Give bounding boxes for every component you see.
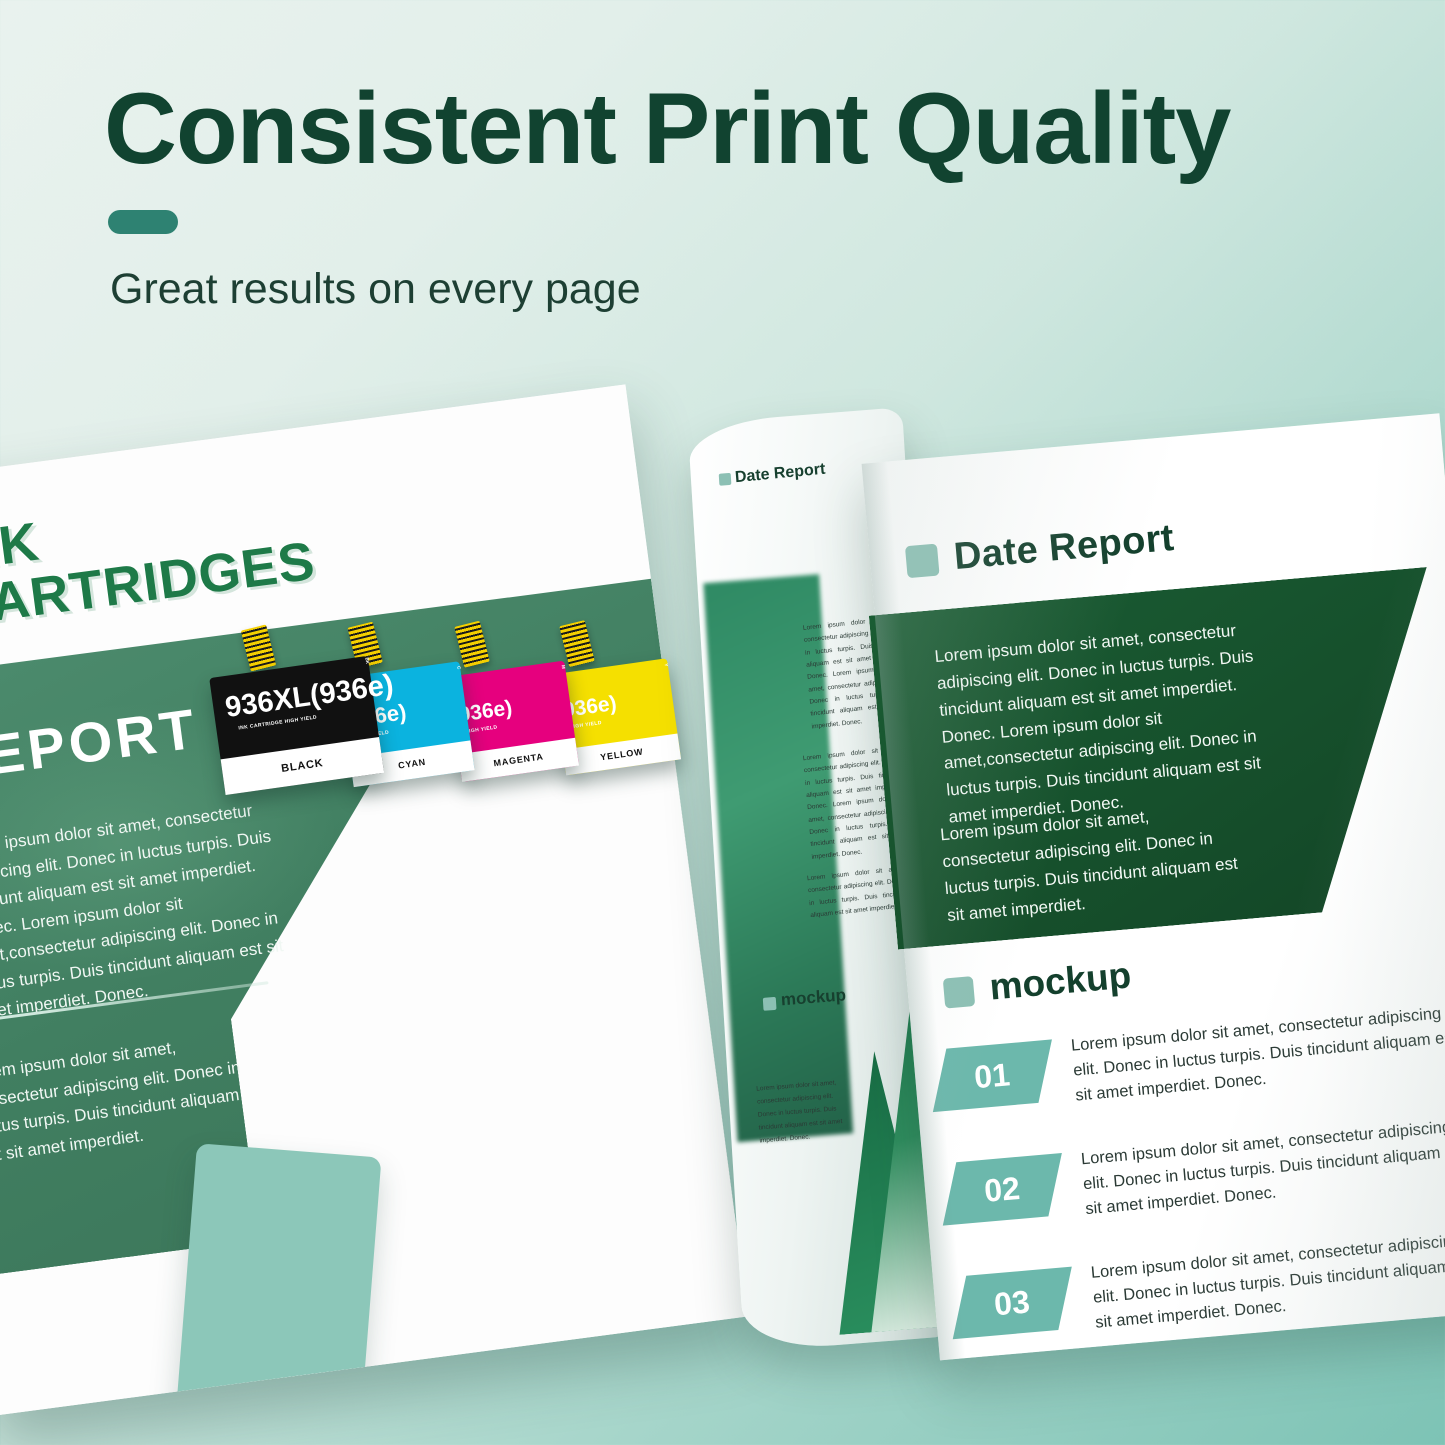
cartridge-black: 936XL(936e) INK CARTRIDGE HIGH YIELD BK …	[209, 656, 384, 795]
cartridge-cyan-side-text: C	[456, 666, 461, 670]
accent-pill-divider	[108, 210, 178, 234]
curled-page-heading-marker-icon	[719, 473, 732, 486]
cartridge-tab-magenta-icon	[454, 621, 489, 668]
right-brochure-spread: Date Report Lorem ipsum dolor sit amet, …	[648, 367, 1445, 1422]
left-brochure-teal-card	[171, 1143, 381, 1415]
curled-page-mockup-paragraph: Lorem ipsum dolor sit amet, consectetur …	[756, 1075, 852, 1147]
mockup-number-label: 01	[973, 1056, 1012, 1096]
date-report-heading: Date Report	[952, 517, 1176, 579]
mockup-heading-marker-icon	[943, 976, 976, 1009]
curled-page-mockup-marker-icon	[763, 997, 777, 1011]
page-subheadline: Great results on every page	[110, 265, 641, 314]
left-brochure-sheet: INK CARTRIDGES REPORT Lorem ipsum dolor …	[0, 384, 748, 1415]
date-report-dark-panel: Lorem ipsum dolor sit amet, consectetur …	[869, 567, 1445, 950]
mockup-number-badge: 01	[933, 1039, 1052, 1112]
mockup-item-text: Lorem ipsum dolor sit amet, consectetur …	[1070, 999, 1445, 1109]
date-report-paragraph-1: Lorem ipsum dolor sit amet, consectetur …	[934, 614, 1301, 832]
page-headline: Consistent Print Quality	[104, 76, 1384, 182]
cartridge-magenta-side-text: M	[561, 665, 566, 669]
cartridge-black-side-text: BK	[364, 657, 370, 664]
mockup-number-label: 02	[983, 1169, 1022, 1209]
mockup-number-label: 03	[993, 1283, 1032, 1323]
mockup-number-badge: 02	[943, 1153, 1062, 1226]
cartridge-tab-yellow-icon	[559, 620, 594, 667]
mockup-heading: mockup	[988, 954, 1133, 1008]
date-report-heading-marker-icon	[905, 544, 940, 579]
curled-page-heading: Date Report	[734, 461, 826, 488]
mockup-number-badge: 03	[953, 1267, 1072, 1340]
